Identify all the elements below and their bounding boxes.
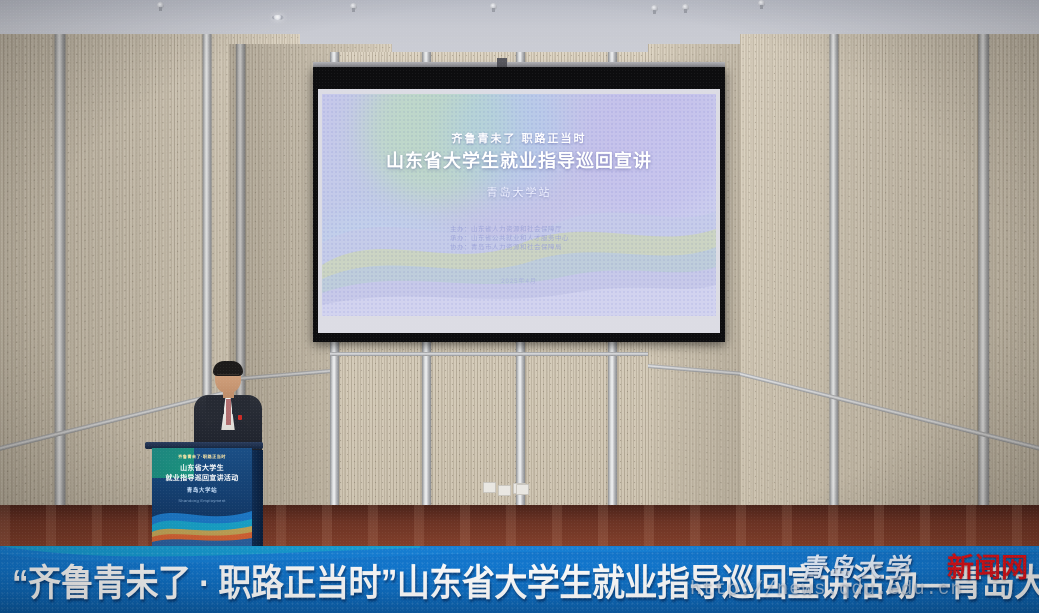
slide-text-block: 齐鲁青未了 职路正当时 山东省大学生就业指导巡回宣讲 青岛大学站 主办：山东省人… <box>322 94 716 316</box>
speaker-tie <box>226 399 231 425</box>
speaker-glasses <box>217 374 239 381</box>
podium-wave-graphic <box>152 499 252 547</box>
slide-organizers: 主办：山东省人力资源和社会保障厅 承办：山东省公共就业和人才服务中心 协办：青岛… <box>450 225 569 252</box>
podium-station: 青岛大学站 <box>152 486 252 494</box>
sprinkler-head <box>350 3 357 10</box>
slide-organizer-line: 协办：青岛市人力资源和社会保障局 <box>450 243 569 252</box>
podium-logo: Shandong Employment <box>152 498 252 503</box>
sprinkler-head <box>682 4 689 11</box>
sprinkler-head <box>651 5 658 12</box>
podium-tagline: 齐鲁青未了·职路正当时 <box>152 454 252 460</box>
wall-outlet <box>516 484 529 495</box>
sprinkler-head <box>758 0 765 7</box>
projection-screen: 齐鲁青未了 职路正当时 山东省大学生就业指导巡回宣讲 青岛大学站 主办：山东省人… <box>313 67 725 342</box>
slide-organizer-line: 承办：山东省公共就业和人才服务中心 <box>450 234 569 243</box>
podium-front-sign: 齐鲁青未了·职路正当时 山东省大学生 就业指导巡回宣讲活动 青岛大学站 Shan… <box>152 448 252 547</box>
watermark-url: http://news.qdu.edu.cn <box>690 578 963 600</box>
podium-side-panel <box>252 450 263 546</box>
podium-line1: 山东省大学生 <box>152 463 252 473</box>
wall-outlet <box>483 482 496 493</box>
sprinkler-head <box>157 2 164 9</box>
slide-title: 山东省大学生就业指导巡回宣讲 <box>322 147 716 173</box>
lecture-hall-photo: 齐鲁青未了 职路正当时 山东省大学生就业指导巡回宣讲 青岛大学站 主办：山东省人… <box>0 0 1039 613</box>
podium-line2: 就业指导巡回宣讲活动 <box>152 473 252 483</box>
projection-screen-surface: 齐鲁青未了 职路正当时 山东省大学生就业指导巡回宣讲 青岛大学站 主办：山东省人… <box>318 89 720 333</box>
slide-station: 青岛大学站 <box>322 184 716 200</box>
slide-tagline: 齐鲁青未了 职路正当时 <box>322 130 716 146</box>
presentation-slide: 齐鲁青未了 职路正当时 山东省大学生就业指导巡回宣讲 青岛大学站 主办：山东省人… <box>322 94 716 316</box>
sprinkler-head <box>490 3 497 10</box>
wall-outlet <box>498 485 511 496</box>
slide-date: 2025年4月 <box>322 276 716 285</box>
news-site-watermark: 青岛大学 新闻网 http://news.qdu.edu.cn <box>800 546 1039 613</box>
slide-organizer-line: 主办：山东省人力资源和社会保障厅 <box>450 225 569 234</box>
ceiling-downlight <box>272 15 284 20</box>
speaker-badge <box>238 415 242 420</box>
podium: 齐鲁青未了·职路正当时 山东省大学生 就业指导巡回宣讲活动 青岛大学站 Shan… <box>148 442 260 547</box>
screen-mount-bracket <box>497 58 507 67</box>
